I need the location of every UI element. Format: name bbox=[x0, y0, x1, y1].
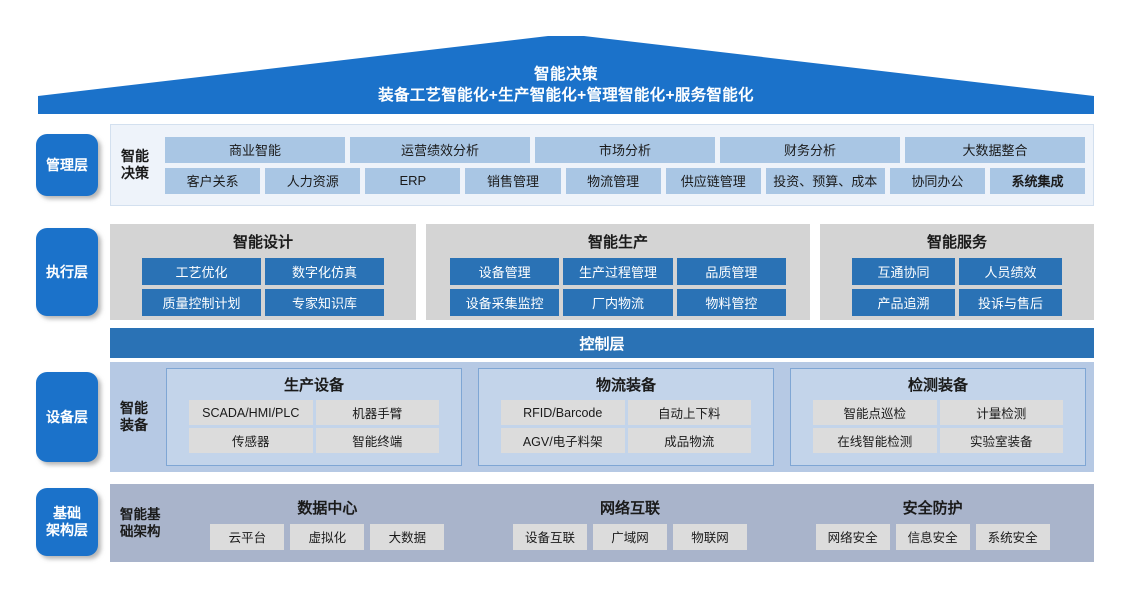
execution-box[interactable]: 生产过程管理 bbox=[563, 258, 672, 285]
equipment-group-title: 生产设备 bbox=[284, 374, 344, 395]
execution-box[interactable]: 产品追溯 bbox=[852, 289, 955, 316]
execution-box[interactable]: 工艺优化 bbox=[142, 258, 261, 285]
infrastructure-box[interactable]: 信息安全 bbox=[896, 524, 970, 550]
equipment-box[interactable]: 在线智能检测 bbox=[813, 428, 937, 453]
equipment-group-inspection: 检测装备 智能点巡检 计量检测 在线智能检测 实验室装备 bbox=[790, 368, 1086, 466]
diagram-canvas: 智能决策 装备工艺智能化+生产智能化+管理智能化+服务智能化 管理层 执行层 设… bbox=[0, 0, 1132, 590]
infrastructure-box[interactable]: 广域网 bbox=[593, 524, 667, 550]
management-box[interactable]: 供应链管理 bbox=[666, 168, 761, 194]
infrastructure-box[interactable]: 网络安全 bbox=[816, 524, 890, 550]
equipment-box[interactable]: RFID/Barcode bbox=[501, 400, 625, 425]
management-box[interactable]: 商业智能 bbox=[165, 137, 345, 163]
infrastructure-box[interactable]: 设备互联 bbox=[513, 524, 587, 550]
infrastructure-group-network: 网络互联 设备互联 广域网 物联网 bbox=[479, 497, 782, 550]
infrastructure-layer-label: 智能基 础架构 bbox=[120, 506, 176, 540]
infrastructure-group-title: 安全防护 bbox=[903, 497, 963, 518]
execution-group-production: 智能生产 设备管理 生产过程管理 品质管理 设备采集监控 厂内物流 物料管控 bbox=[426, 224, 810, 320]
equipment-box[interactable]: 计量检测 bbox=[940, 400, 1064, 425]
roof-subtitle: 装备工艺智能化+生产智能化+管理智能化+服务智能化 bbox=[378, 85, 754, 107]
execution-box[interactable]: 质量控制计划 bbox=[142, 289, 261, 316]
management-box[interactable]: 市场分析 bbox=[535, 137, 715, 163]
management-box[interactable]: 人力资源 bbox=[265, 168, 360, 194]
infrastructure-box[interactable]: 虚拟化 bbox=[290, 524, 364, 550]
roof-banner: 智能决策 装备工艺智能化+生产智能化+管理智能化+服务智能化 bbox=[38, 36, 1094, 114]
sidebar-item-label: 基础 架构层 bbox=[46, 505, 88, 539]
execution-box[interactable]: 投诉与售后 bbox=[959, 289, 1062, 316]
execution-group-service: 智能服务 互通协同 人员绩效 产品追溯 投诉与售后 bbox=[820, 224, 1094, 320]
control-layer-label: 控制层 bbox=[579, 333, 624, 354]
equipment-layer-panel: 智能 装备 生产设备 SCADA/HMI/PLC 机器手臂 传感器 智能终端 物… bbox=[110, 362, 1094, 472]
execution-layer-panel: 智能设计 工艺优化 数字化仿真 质量控制计划 专家知识库 智能生产 设备管理 生… bbox=[110, 224, 1094, 320]
equipment-group-title: 检测装备 bbox=[908, 374, 968, 395]
infrastructure-box[interactable]: 系统安全 bbox=[976, 524, 1050, 550]
management-bottom-row: 客户关系 人力资源 ERP 销售管理 物流管理 供应链管理 投资、预算、成本 协… bbox=[165, 168, 1085, 194]
execution-box[interactable]: 数字化仿真 bbox=[265, 258, 384, 285]
management-box[interactable]: 协同办公 bbox=[890, 168, 985, 194]
execution-group-title: 智能设计 bbox=[233, 231, 293, 252]
management-box[interactable]: ERP bbox=[365, 168, 460, 194]
equipment-box[interactable]: 实验室装备 bbox=[940, 428, 1064, 453]
infrastructure-group-title: 数据中心 bbox=[297, 497, 357, 518]
equipment-box[interactable]: SCADA/HMI/PLC bbox=[189, 400, 313, 425]
execution-box[interactable]: 物料管控 bbox=[677, 289, 786, 316]
equipment-box[interactable]: 智能终端 bbox=[316, 428, 440, 453]
management-box[interactable]: 投资、预算、成本 bbox=[766, 168, 885, 194]
equipment-group-production: 生产设备 SCADA/HMI/PLC 机器手臂 传感器 智能终端 bbox=[166, 368, 462, 466]
sidebar-item-infrastructure[interactable]: 基础 架构层 bbox=[36, 488, 98, 556]
equipment-box[interactable]: AGV/电子料架 bbox=[501, 428, 625, 453]
management-box[interactable]: 客户关系 bbox=[165, 168, 260, 194]
management-box[interactable]: 销售管理 bbox=[465, 168, 560, 194]
equipment-box[interactable]: 传感器 bbox=[189, 428, 313, 453]
sidebar-item-management[interactable]: 管理层 bbox=[36, 134, 98, 196]
management-layer-label: 智能 决策 bbox=[119, 148, 165, 182]
infrastructure-box[interactable]: 大数据 bbox=[370, 524, 444, 550]
infrastructure-group-datacenter: 数据中心 云平台 虚拟化 大数据 bbox=[176, 497, 479, 550]
management-box[interactable]: 系统集成 bbox=[990, 168, 1085, 194]
management-box[interactable]: 物流管理 bbox=[566, 168, 661, 194]
execution-box[interactable]: 厂内物流 bbox=[563, 289, 672, 316]
equipment-box[interactable]: 机器手臂 bbox=[316, 400, 440, 425]
execution-box[interactable]: 设备采集监控 bbox=[450, 289, 559, 316]
equipment-box[interactable]: 自动上下料 bbox=[628, 400, 752, 425]
infrastructure-group-security: 安全防护 网络安全 信息安全 系统安全 bbox=[781, 497, 1084, 550]
control-layer-bar: 控制层 bbox=[110, 328, 1094, 358]
sidebar-item-execution[interactable]: 执行层 bbox=[36, 228, 98, 316]
infrastructure-box[interactable]: 物联网 bbox=[673, 524, 747, 550]
management-box[interactable]: 运营绩效分析 bbox=[350, 137, 530, 163]
sidebar-item-label: 设备层 bbox=[46, 409, 88, 426]
infrastructure-group-title: 网络互联 bbox=[600, 497, 660, 518]
execution-box[interactable]: 专家知识库 bbox=[265, 289, 384, 316]
equipment-group-title: 物流装备 bbox=[596, 374, 656, 395]
execution-group-title: 智能生产 bbox=[588, 231, 648, 252]
infrastructure-box[interactable]: 云平台 bbox=[210, 524, 284, 550]
management-box[interactable]: 大数据整合 bbox=[905, 137, 1085, 163]
sidebar-item-label: 执行层 bbox=[46, 264, 88, 281]
execution-box[interactable]: 设备管理 bbox=[450, 258, 559, 285]
equipment-group-logistics: 物流装备 RFID/Barcode 自动上下料 AGV/电子料架 成品物流 bbox=[478, 368, 774, 466]
execution-box[interactable]: 互通协同 bbox=[852, 258, 955, 285]
sidebar-item-equipment[interactable]: 设备层 bbox=[36, 372, 98, 462]
equipment-box[interactable]: 智能点巡检 bbox=[813, 400, 937, 425]
equipment-box[interactable]: 成品物流 bbox=[628, 428, 752, 453]
roof-title: 智能决策 bbox=[534, 65, 598, 85]
equipment-layer-label: 智能 装备 bbox=[118, 400, 166, 434]
sidebar-item-label: 管理层 bbox=[46, 157, 88, 174]
management-box[interactable]: 财务分析 bbox=[720, 137, 900, 163]
execution-box[interactable]: 品质管理 bbox=[677, 258, 786, 285]
execution-group-design: 智能设计 工艺优化 数字化仿真 质量控制计划 专家知识库 bbox=[110, 224, 416, 320]
management-top-row: 商业智能 运营绩效分析 市场分析 财务分析 大数据整合 bbox=[165, 137, 1085, 163]
execution-group-title: 智能服务 bbox=[927, 231, 987, 252]
management-layer-panel: 智能 决策 商业智能 运营绩效分析 市场分析 财务分析 大数据整合 客户关系 人… bbox=[110, 124, 1094, 206]
execution-box[interactable]: 人员绩效 bbox=[959, 258, 1062, 285]
infrastructure-layer-panel: 智能基 础架构 数据中心 云平台 虚拟化 大数据 网络互联 设备互联 广域网 物… bbox=[110, 484, 1094, 562]
